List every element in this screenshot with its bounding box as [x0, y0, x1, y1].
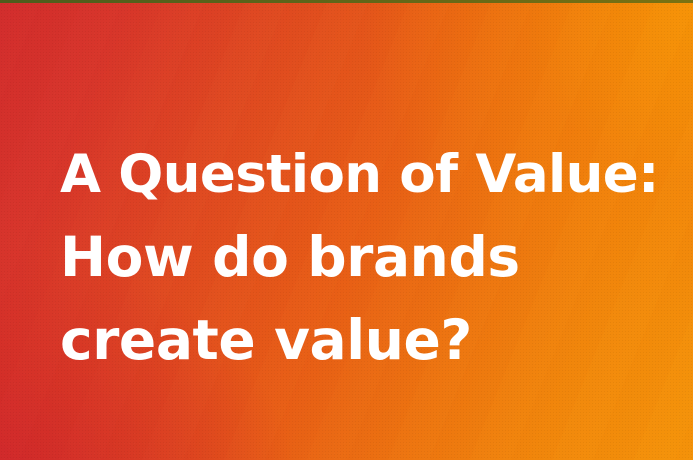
headline-line-1: A Question of Value: [60, 133, 690, 216]
slide-headline: A Question of Value: How do brands creat… [60, 133, 690, 382]
headline-line-3: create value? [60, 299, 690, 382]
top-edge-strip [0, 0, 693, 3]
headline-line-2: How do brands [60, 216, 690, 299]
slide-canvas: A Question of Value: How do brands creat… [0, 0, 693, 460]
